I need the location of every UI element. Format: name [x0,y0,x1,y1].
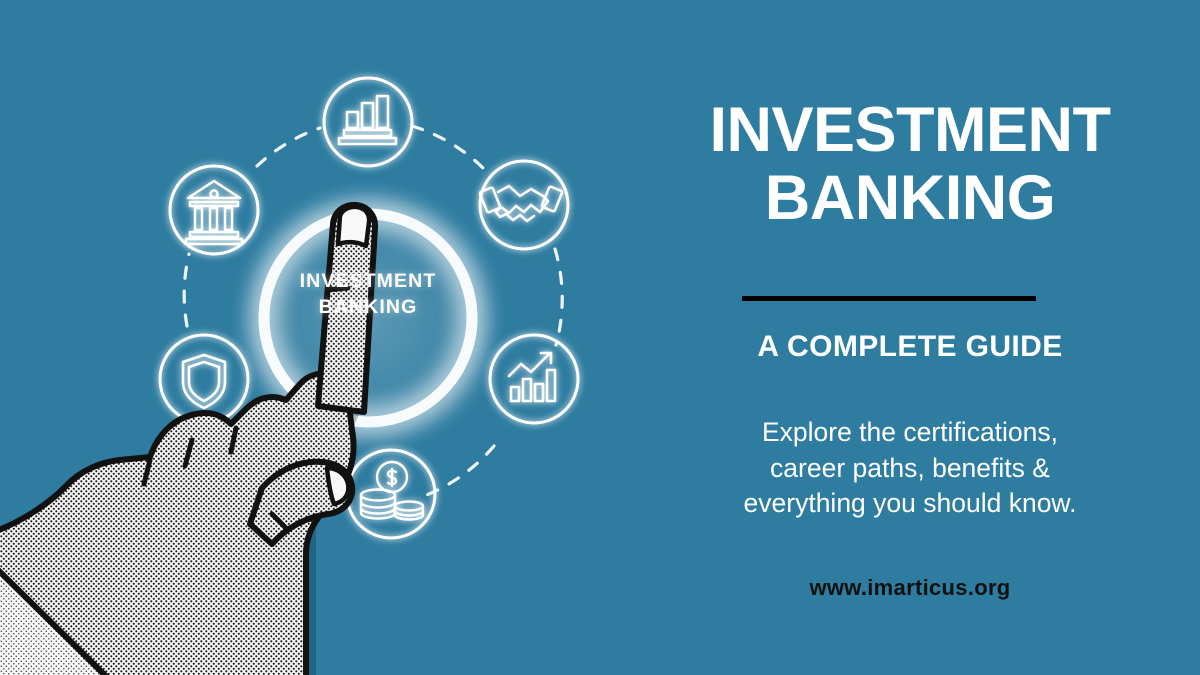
website-url[interactable]: www.imarticus.org [620,575,1200,601]
bank-building-icon [186,181,242,244]
title-line-1: INVESTMENT [620,96,1200,164]
arc-handshake-to-growth [555,249,562,345]
handshake-icon [479,186,562,221]
shield-icon [183,355,225,408]
arc-bank-to-barchart [257,128,320,166]
concept-graphic: INVESTMENT BANKING [0,0,620,675]
arc-shield-to-bank [184,254,189,326]
node-coins[interactable] [347,450,435,538]
title-divider [742,296,1036,301]
money-coins-icon [361,462,423,520]
node-bar-chart[interactable] [324,78,412,166]
description-line-2: career paths, benefits & [640,451,1180,487]
arc-barchart-to-handshake [412,126,487,172]
node-bank[interactable] [170,166,258,254]
title-line-2: BANKING [620,164,1200,232]
index-knuckle-crease [327,288,348,290]
graphic-svg [0,0,620,675]
description: Explore the certifications, career paths… [640,415,1180,522]
node-circle [480,161,568,249]
node-circle [324,78,412,166]
bar-chart-podium-icon [339,96,396,144]
node-circle [490,335,578,423]
subtitle: A COMPLETE GUIDE [620,330,1200,364]
node-circle [170,166,258,254]
node-handshake[interactable] [479,161,568,249]
description-line-1: Explore the certifications, [640,415,1180,451]
growth-chart-icon [509,353,555,401]
node-shield[interactable] [160,335,248,423]
page-title: INVESTMENT BANKING [620,96,1200,232]
index-fingernail [338,207,369,246]
node-growth-chart[interactable] [490,335,578,423]
node-circle [160,335,248,423]
copy-column: INVESTMENT BANKING A COMPLETE GUIDE Expl… [620,0,1200,675]
description-line-3: everything you should know. [640,486,1180,522]
investment-banking-banner: INVESTMENT BANKING INVESTMENT BANKING A … [0,0,1200,675]
